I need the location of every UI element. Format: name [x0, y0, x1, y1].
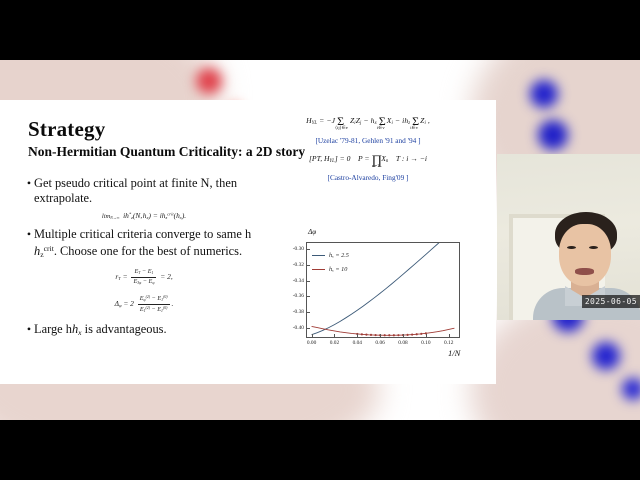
webcam-mouth — [575, 268, 594, 275]
chart-legend-item: hₓ = 2.5 — [312, 252, 349, 259]
chart-y-tick-mark — [307, 328, 310, 329]
chart-data-point — [411, 333, 413, 335]
list-item: • Large hhx is advantageous. — [24, 322, 264, 340]
chart-data-point — [397, 334, 399, 336]
presentation-slide: Strategy Non-Hermitian Quantum Criticali… — [0, 100, 496, 384]
chart-data-point — [361, 333, 363, 335]
chart-y-tick-label: -0.40 — [293, 325, 304, 331]
chart-y-axis-label: Δφ — [308, 228, 316, 236]
chart-y-tick-mark — [307, 296, 310, 297]
chart-data-point — [384, 334, 386, 336]
chart-x-tick-label: 0.12 — [444, 340, 453, 346]
chart-y-tick-label: -0.34 — [293, 278, 304, 284]
bullet-text-part1: Multiple critical criteria converge to s… — [34, 227, 251, 241]
bullet-text: Large hhx is advantageous. — [34, 322, 167, 340]
bullet-marker-icon: • — [24, 227, 34, 242]
chart-legend-label: hₓ = 2.5 — [329, 252, 349, 259]
chart-legend-swatch — [312, 269, 325, 270]
bullet-text-part1: Large h — [34, 322, 72, 336]
chart-x-tick-mark — [426, 334, 427, 337]
chart-y-tick-mark — [307, 265, 310, 266]
page-title: Strategy — [28, 117, 105, 142]
list-item: • Get pseudo critical point at finite N,… — [24, 176, 264, 205]
citation-castro-alvaredo: [Castro-Alvaredo, Fing'09 ] — [248, 173, 488, 182]
chart-data-point — [420, 333, 422, 335]
chart-x-tick-label: 0.02 — [330, 340, 339, 346]
chart-legend-item: hₓ = 10 — [312, 266, 349, 273]
chart-x-tick-mark — [403, 334, 404, 337]
chart-x-tick-mark — [334, 334, 335, 337]
chart-data-point — [374, 334, 376, 336]
webcam-eye-left — [567, 246, 576, 249]
bullet-marker-icon: • — [24, 322, 34, 337]
letterbox-top — [0, 0, 640, 60]
chart-x-tick-label: 0.10 — [421, 340, 430, 346]
webcam-face — [559, 224, 611, 286]
chart-legend: hₓ = 2.5hₓ = 10 — [312, 252, 349, 280]
chart-y-tick-label: -0.30 — [293, 246, 304, 252]
blue-sphere-corner — [622, 378, 640, 400]
chart-legend-swatch — [312, 255, 325, 256]
equation-column: HYL = −J Σ⟨ij⟩∈e ZiZj − hx Σi∈v Xi − ihz… — [248, 114, 488, 182]
blue-sphere-top-right — [530, 80, 558, 108]
chart-y-tick-label: -0.36 — [293, 293, 304, 299]
letterbox-bottom — [0, 420, 640, 480]
chart-y-tick-label: -0.38 — [293, 309, 304, 315]
formula-rt: rT = ET − E1E3φ − Eφ = 2, — [24, 268, 264, 287]
webcam-video[interactable]: 2025-06-05 — [497, 154, 640, 320]
chart-x-tick-label: 0.04 — [353, 340, 362, 346]
blue-sphere-mid-right — [538, 120, 568, 150]
formula-limit: limN→∞ ih*z(N, hx) = ihzcrit(hx). — [24, 211, 264, 220]
chart-x-tick-label: 0.08 — [398, 340, 407, 346]
chart-data-point — [365, 334, 367, 336]
bullet-text: Multiple critical criteria converge to s… — [34, 227, 251, 262]
chart-x-tick-mark — [449, 334, 450, 337]
video-frame: Strategy Non-Hermitian Quantum Criticali… — [0, 0, 640, 480]
webcam-eye-right — [589, 246, 598, 249]
chart-data-point — [406, 334, 408, 336]
bullet-marker-icon: • — [24, 176, 34, 191]
bullet-text: Get pseudo critical point at finite N, t… — [34, 176, 264, 205]
chart-y-tick-label: -0.32 — [293, 262, 304, 268]
chart-data-point — [416, 333, 418, 335]
chart-series-line — [312, 326, 455, 335]
chart-data-point — [393, 334, 395, 336]
bullet-text-part2: is advantageous. — [82, 322, 167, 336]
formula-delta-phi: Δφ = 2 Eφ(2) − E1(0)E1(2) − E1(0). — [24, 294, 264, 315]
list-item: • Multiple critical criteria converge to… — [24, 227, 264, 262]
chart-x-tick-mark — [380, 334, 381, 337]
citation-uzelac: [Uzelac '79-81, Gehlen '91 and '94 ] — [248, 136, 488, 145]
pt-symmetry-equation: [PT, HYL] = 0 P = ∏n=1 Xn T : i → −i — [248, 152, 488, 168]
chart-y-tick-mark — [307, 281, 310, 282]
chart-legend-label: hₓ = 10 — [329, 266, 347, 273]
chart-x-tick-mark — [357, 334, 358, 337]
hamiltonian-equation: HYL = −J Σ⟨ij⟩∈e ZiZj − hx Σi∈v Xi − ihz… — [248, 114, 488, 131]
red-sphere-top — [196, 68, 222, 94]
chart-data-point — [370, 334, 372, 336]
chart-y-tick-mark — [307, 312, 310, 313]
chart-x-tick-label: 0.00 — [307, 340, 316, 346]
chart-data-point — [388, 334, 390, 336]
bullet-list: • Get pseudo critical point at finite N,… — [24, 176, 264, 342]
chart-x-tick-mark — [312, 334, 313, 337]
chart-x-axis-label: 1/N — [448, 348, 460, 358]
chart-x-tick-label: 0.06 — [375, 340, 384, 346]
timestamp-overlay: 2025-06-05 — [582, 295, 640, 308]
chart-y-tick-mark — [307, 249, 310, 250]
finite-size-scaling-chart: Δφ -0.30-0.32-0.34-0.36-0.38-0.400.000.0… — [272, 228, 480, 363]
bullet-text-part2: . Choose one for the best of numerics. — [54, 243, 242, 257]
blue-sphere-lower-right-2 — [592, 342, 620, 370]
